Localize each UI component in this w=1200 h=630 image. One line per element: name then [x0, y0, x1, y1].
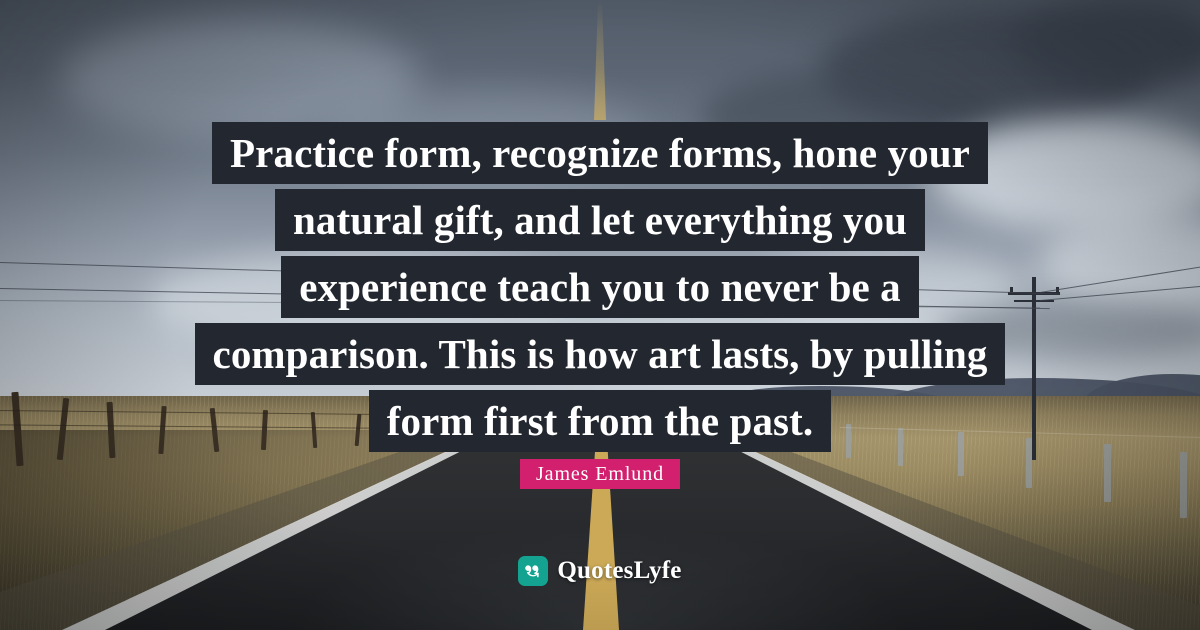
quote-card: Practice form, recognize forms, hone you… — [0, 0, 1200, 630]
quote-mark-icon — [518, 556, 548, 586]
brand-logo: QuotesLyfe — [0, 556, 1200, 586]
author-badge: James Emlund — [520, 459, 680, 489]
quote-line: Practice form, recognize forms, hone you… — [212, 122, 988, 184]
quote-line: experience teach you to never be a — [281, 256, 919, 318]
quote-line: comparison. This is how art lasts, by pu… — [195, 323, 1006, 385]
brand-name: QuotesLyfe — [557, 556, 681, 586]
author-area: James Emlund — [0, 459, 1200, 489]
quote-line: form first from the past. — [369, 390, 831, 452]
card-content: Practice form, recognize forms, hone you… — [0, 0, 1200, 630]
quote-line: natural gift, and let everything you — [275, 189, 925, 251]
quote-text-block: Practice form, recognize forms, hone you… — [0, 122, 1200, 452]
